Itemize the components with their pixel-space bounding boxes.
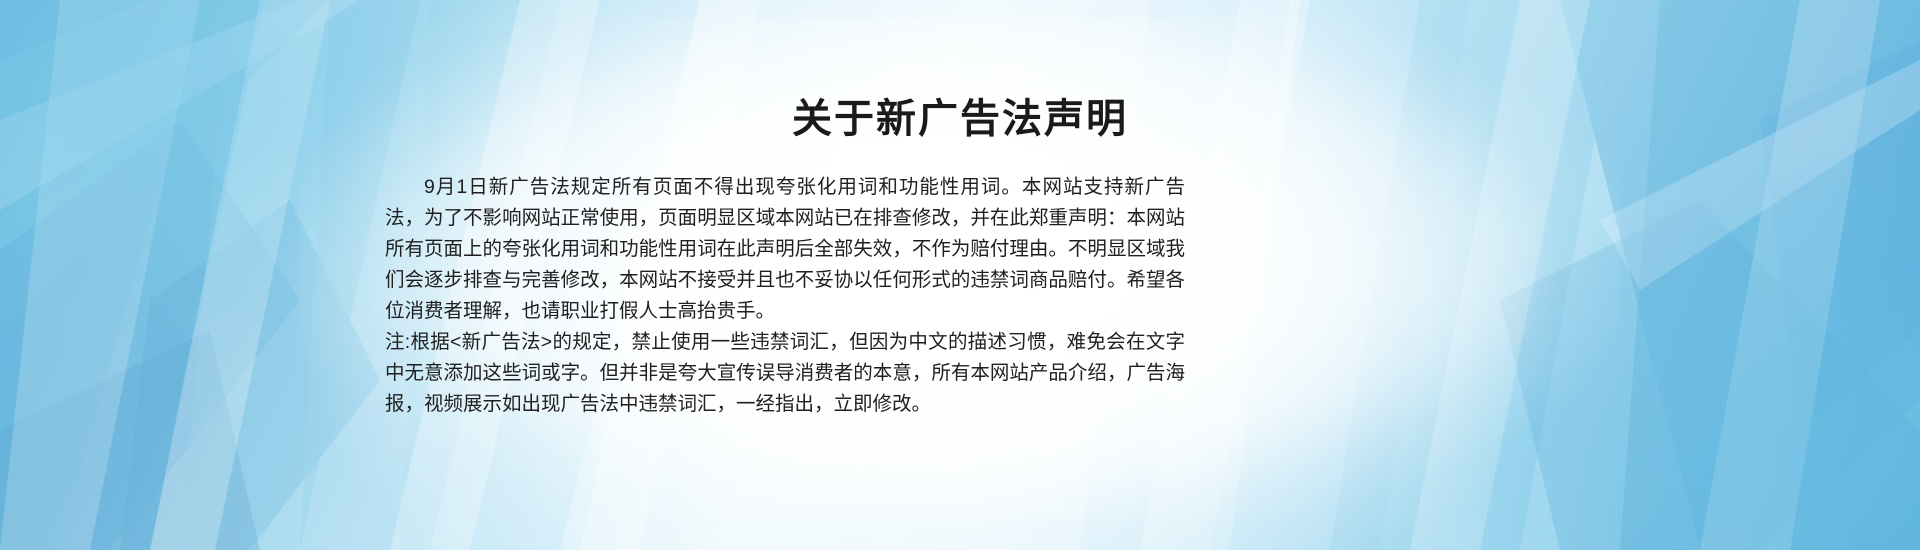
- statement-paragraph-main: 9月1日新广告法规定所有页面不得出现夸张化用词和功能性用词。本网站支持新广告法，…: [385, 172, 1185, 327]
- advertising-law-statement-banner: 关于新广告法声明 9月1日新广告法规定所有页面不得出现夸张化用词和功能性用词。本…: [0, 0, 1920, 550]
- statement-body: 9月1日新广告法规定所有页面不得出现夸张化用词和功能性用词。本网站支持新广告法，…: [385, 172, 1185, 420]
- statement-paragraph-note: 注:根据<新广告法>的规定，禁止使用一些违禁词汇，但因为中文的描述习惯，难免会在…: [385, 327, 1185, 420]
- page-title: 关于新广告法声明: [0, 92, 1920, 146]
- banner-content: 关于新广告法声明 9月1日新广告法规定所有页面不得出现夸张化用词和功能性用词。本…: [0, 0, 1920, 550]
